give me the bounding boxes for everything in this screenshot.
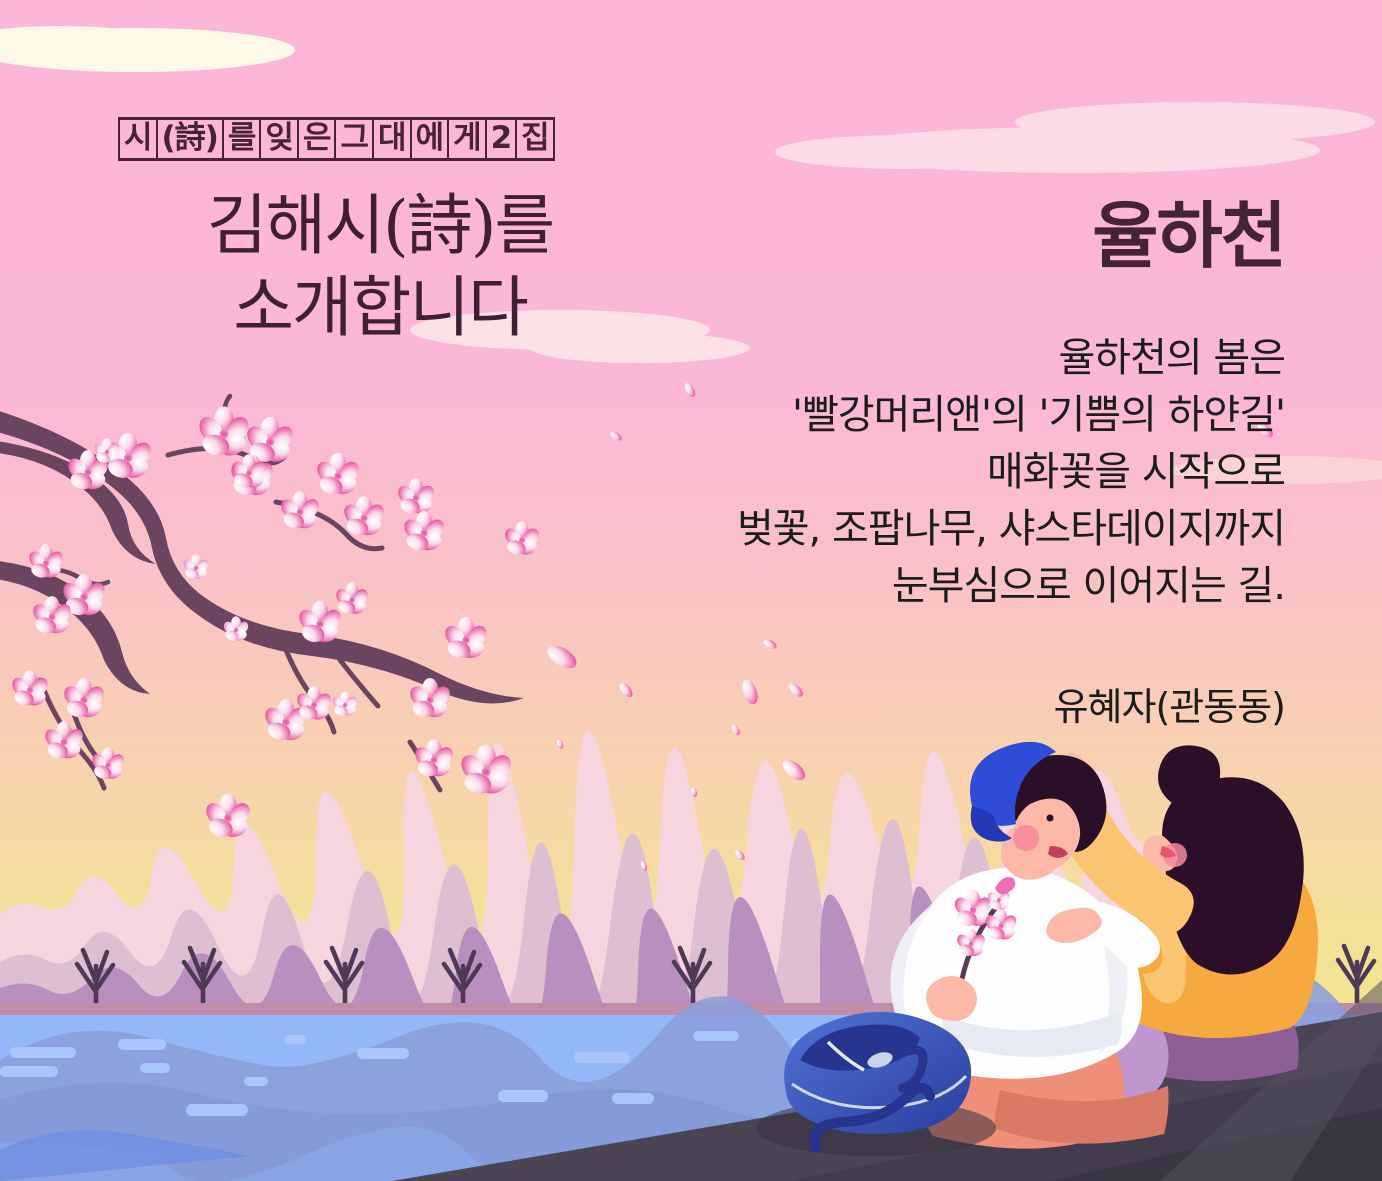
poem-title: 율하천 bbox=[1092, 196, 1285, 276]
series-banner-cell: 2 bbox=[485, 120, 516, 158]
series-banner-cell: 를 bbox=[222, 120, 260, 158]
poem-line: 매화꽃을 시작으로 bbox=[525, 444, 1285, 501]
poem-line: '빨강머리앤'의 '기쁨의 하얀길' bbox=[525, 387, 1285, 444]
poem-line: 벚꽃, 조팝나무, 샤스타데이지까지 bbox=[525, 501, 1285, 558]
series-banner-cell: 그 bbox=[334, 120, 372, 158]
page-title-line-1: 김해시(詩)를 bbox=[120, 185, 640, 267]
series-banner-cell: 게 bbox=[447, 120, 485, 158]
poem-line: 율하천의 봄은 bbox=[525, 330, 1285, 387]
woman-hair bbox=[1162, 777, 1304, 974]
poster-canvas: 시 (詩) 를 잊 은 그 대 에 게 2 집 김해시(詩)를 소개합니다 율하… bbox=[0, 0, 1382, 1181]
page-title: 김해시(詩)를 소개합니다 bbox=[120, 185, 640, 349]
poem-author: 유혜자(관동동) bbox=[1054, 676, 1285, 731]
series-banner: 시 (詩) 를 잊 은 그 대 에 게 2 집 bbox=[118, 117, 555, 161]
series-banner-cell: 대 bbox=[372, 120, 410, 158]
series-banner-cell: (詩) bbox=[156, 120, 222, 158]
man-eye bbox=[1047, 815, 1054, 822]
series-banner-cell: 시 bbox=[118, 120, 156, 158]
series-banner-cell: 에 bbox=[410, 120, 448, 158]
series-banner-cell: 은 bbox=[297, 120, 335, 158]
poem-body: 율하천의 봄은 '빨강머리앤'의 '기쁨의 하얀길' 매화꽃을 시작으로 벚꽃,… bbox=[525, 330, 1285, 615]
series-banner-cell: 집 bbox=[515, 120, 555, 158]
poem-line: 눈부심으로 이어지는 길. bbox=[525, 558, 1285, 615]
man-cheek bbox=[1013, 825, 1039, 851]
series-banner-cell: 잊 bbox=[259, 120, 297, 158]
